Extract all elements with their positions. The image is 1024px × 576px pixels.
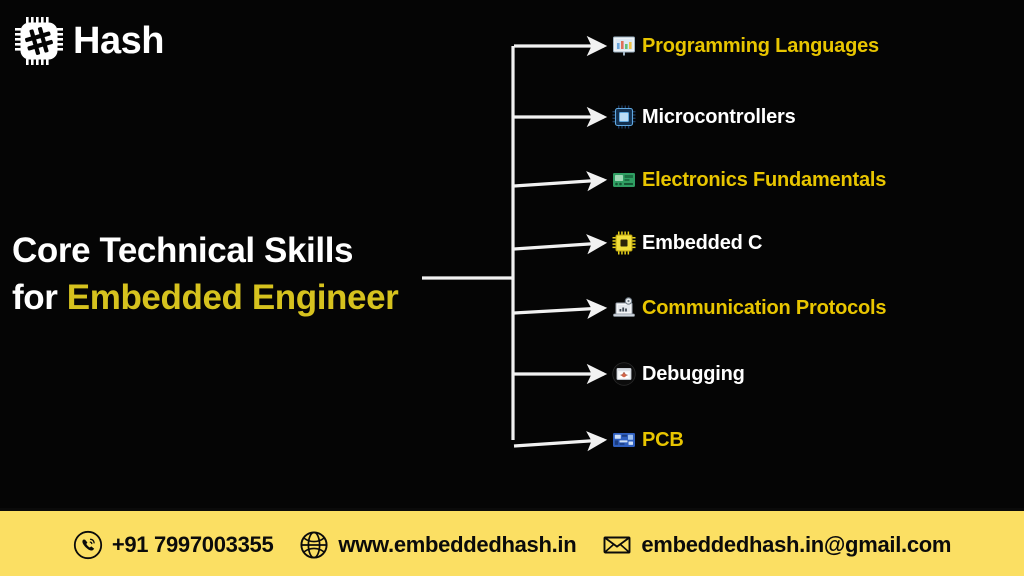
envelope-icon [602,530,632,560]
globe-icon [299,530,329,560]
circuit-board-blue-icon [612,428,636,452]
headline-line-2: for Embedded Engineer [12,275,442,322]
brand-name: Hash [73,22,164,60]
presentation-chart-icon [612,34,636,58]
branch-label: Communication Protocols [642,298,886,318]
branch-item-communication-protocols[interactable]: Communication Protocols [612,293,886,323]
headline-prefix: for [12,278,67,317]
footer-phone-text: +91 7997003355 [112,534,274,556]
footer-website[interactable]: www.embeddedhash.in [299,530,576,560]
branch-item-programming-languages[interactable]: Programming Languages [612,31,879,61]
microchip-icon [612,105,636,129]
branch-label: PCB [642,430,684,450]
connector-branch-3 [514,180,604,186]
chip-yellow-icon [612,231,636,255]
branch-item-pcb[interactable]: PCB [612,425,684,455]
footer-email-text: embeddedhash.in@gmail.com [641,534,951,556]
bug-window-icon [612,362,636,386]
branch-item-embedded-c[interactable]: Embedded C [612,228,762,258]
brand-logo: Hash [14,16,164,66]
connector-branch-7 [514,440,604,446]
footer-email[interactable]: embeddedhash.in@gmail.com [602,530,951,560]
branch-item-electronics-fundamentals[interactable]: Electronics Fundamentals [612,165,886,195]
branch-item-debugging[interactable]: Debugging [612,359,745,389]
headline-highlight: Embedded Engineer [67,278,399,317]
footer-phone[interactable]: +91 7997003355 [73,530,274,560]
branch-label: Programming Languages [642,36,879,56]
branch-label: Embedded C [642,233,762,253]
connector-branch-5 [514,308,604,313]
chip-hash-icon [14,16,64,66]
page-title: Core Technical Skills for Embedded Engin… [12,228,442,321]
branch-item-microcontrollers[interactable]: Microcontrollers [612,102,796,132]
footer-website-text: www.embeddedhash.in [338,534,576,556]
contact-footer: +91 7997003355 www.embeddedhash.in [0,508,1024,576]
phone-circle-icon [73,530,103,560]
branch-label: Debugging [642,364,745,384]
laptop-gear-icon [612,296,636,320]
branch-label: Electronics Fundamentals [642,170,886,190]
circuit-board-green-icon [612,168,636,192]
branch-label: Microcontrollers [642,107,796,127]
headline-line-1: Core Technical Skills [12,228,442,275]
connector-branch-4 [514,243,604,249]
infographic-canvas: Hash Core Technical Skills for Embedded … [0,0,1024,576]
headline-line-1-text: Core Technical Skills [12,231,353,270]
